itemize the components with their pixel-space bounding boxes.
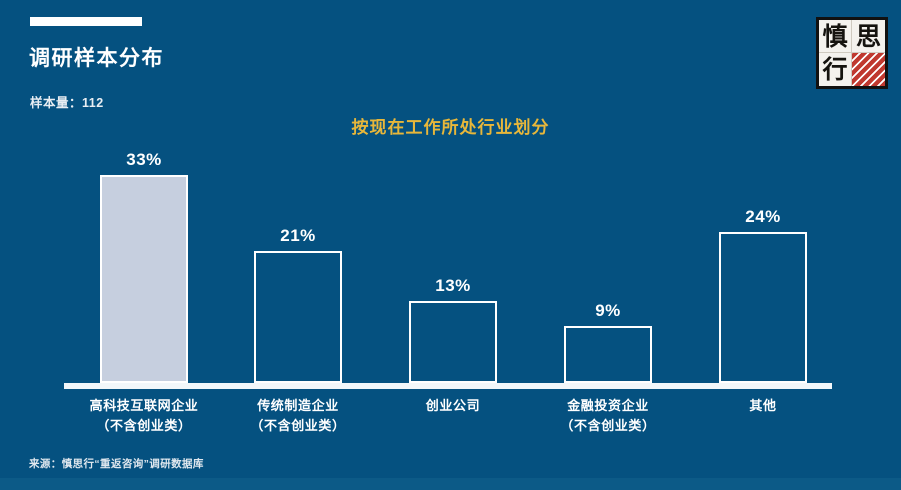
bar-3[interactable]: [409, 301, 497, 383]
title-accent-bar: [30, 17, 142, 26]
bar-5[interactable]: [719, 232, 807, 383]
sample-size-label: 样本量：112: [30, 92, 104, 111]
bar-4[interactable]: [564, 326, 652, 383]
bar-value-5: 24%: [704, 207, 822, 227]
category-label-3: 创业公司: [376, 396, 530, 416]
bottom-strip: [0, 478, 901, 490]
brand-logo: 慎 思 行: [816, 17, 888, 89]
bar-value-1: 33%: [85, 150, 203, 170]
bar-value-4: 9%: [549, 301, 667, 321]
bar-value-3: 13%: [394, 276, 512, 296]
category-label-1: 高科技互联网企业 （不含创业类）: [67, 396, 221, 436]
source-note: 来源：慎思行“重返咨询”调研数据库: [29, 456, 204, 471]
bar-chart-plot: 33%高科技互联网企业 （不含创业类）21%传统制造企业 （不含创业类）13%创…: [0, 0, 901, 490]
chart-title: 按现在工作所处行业划分: [0, 113, 901, 138]
logo-char-si: 思: [852, 20, 885, 53]
page-title: 调研样本分布: [29, 46, 164, 71]
category-label-5: 其他: [686, 396, 840, 416]
logo-stripe-mark-icon: [852, 53, 885, 86]
logo-char-xing: 行: [819, 53, 852, 86]
bar-value-2: 21%: [239, 226, 357, 246]
x-axis-line: [64, 383, 832, 389]
category-label-4: 金融投资企业 （不含创业类）: [531, 396, 685, 436]
bar-2[interactable]: [254, 251, 342, 383]
category-label-2: 传统制造企业 （不含创业类）: [221, 396, 375, 436]
slide-canvas: 调研样本分布 样本量：112 慎 思 行 按现在工作所处行业划分 33%高科技互…: [0, 0, 901, 490]
bar-1[interactable]: [100, 175, 188, 383]
logo-char-shen: 慎: [819, 20, 852, 53]
